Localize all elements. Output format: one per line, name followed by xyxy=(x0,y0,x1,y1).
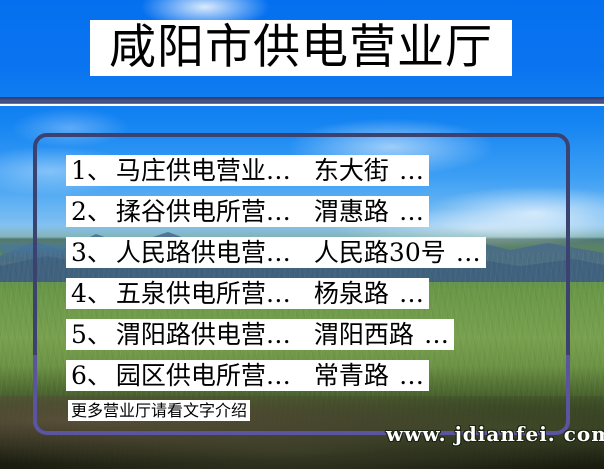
branch-list: 1、 马庄供电营业 … 东大街 … 2、 揉谷供电所营 … 渭惠路 … 3、 人… xyxy=(66,155,536,401)
list-item-address-ellipsis: … xyxy=(399,360,425,391)
list-item-name: 马庄供电营业 xyxy=(116,155,266,186)
list-item-index: 5、 xyxy=(71,319,112,350)
list-item-name-ellipsis: … xyxy=(266,196,292,227)
list-item[interactable]: 5、 渭阳路供电营 … 渭阳西路 … xyxy=(66,319,454,350)
site-watermark: www. jdianfei. com xyxy=(386,421,604,447)
list-item-address-ellipsis: … xyxy=(399,196,425,227)
list-item-index: 2、 xyxy=(71,196,112,227)
list-item-name-ellipsis: … xyxy=(266,237,292,268)
list-item-address: 人民路30号 xyxy=(314,237,446,268)
list-item-address-ellipsis: … xyxy=(424,319,450,350)
list-item-address: 常青路 xyxy=(314,360,389,391)
list-item-name: 人民路供电营 xyxy=(116,237,266,268)
list-item-index: 4、 xyxy=(71,278,112,309)
list-item-name: 园区供电所营 xyxy=(116,360,266,391)
list-item[interactable]: 3、 人民路供电营 … 人民路30号 … xyxy=(66,237,486,268)
list-item[interactable]: 4、 五泉供电所营 … 杨泉路 … xyxy=(66,278,429,309)
list-item-name-ellipsis: … xyxy=(266,319,292,350)
footnote-text: 更多营业厅请看文字介绍 xyxy=(68,400,250,421)
list-item[interactable]: 2、 揉谷供电所营 … 渭惠路 … xyxy=(66,196,429,227)
list-item[interactable]: 1、 马庄供电营业 … 东大街 … xyxy=(66,155,429,186)
header-divider xyxy=(0,97,604,106)
list-item-name-ellipsis: … xyxy=(266,155,292,186)
list-item-wrapper: 2、 揉谷供电所营 … 渭惠路 … xyxy=(66,196,536,237)
list-item-address-ellipsis: … xyxy=(399,278,425,309)
list-item-name-ellipsis: … xyxy=(266,360,292,391)
list-item-index: 6、 xyxy=(71,360,112,391)
list-item-wrapper: 6、 园区供电所营 … 常青路 … xyxy=(66,360,536,401)
list-item[interactable]: 6、 园区供电所营 … 常青路 … xyxy=(66,360,429,391)
list-item-address: 渭惠路 xyxy=(314,196,389,227)
list-item-name-ellipsis: … xyxy=(266,278,292,309)
slide-canvas: 咸阳市供电营业厅 1、 马庄供电营业 … 东大街 … 2、 揉谷供电所营 … 渭… xyxy=(0,0,604,469)
list-item-address: 渭阳西路 xyxy=(314,319,414,350)
list-item-index: 3、 xyxy=(71,237,112,268)
list-item-address-ellipsis: … xyxy=(399,155,425,186)
list-item-wrapper: 5、 渭阳路供电营 … 渭阳西路 … xyxy=(66,319,536,360)
list-item-wrapper: 4、 五泉供电所营 … 杨泉路 … xyxy=(66,278,536,319)
list-item-address-ellipsis: … xyxy=(456,237,482,268)
list-item-address: 东大街 xyxy=(314,155,389,186)
page-title: 咸阳市供电营业厅 xyxy=(90,20,512,76)
list-item-index: 1、 xyxy=(71,155,112,186)
list-item-name: 五泉供电所营 xyxy=(116,278,266,309)
list-item-address: 杨泉路 xyxy=(314,278,389,309)
list-item-wrapper: 3、 人民路供电营 … 人民路30号 … xyxy=(66,237,536,278)
list-item-name: 渭阳路供电营 xyxy=(116,319,266,350)
list-item-wrapper: 1、 马庄供电营业 … 东大街 … xyxy=(66,155,536,196)
list-item-name: 揉谷供电所营 xyxy=(116,196,266,227)
